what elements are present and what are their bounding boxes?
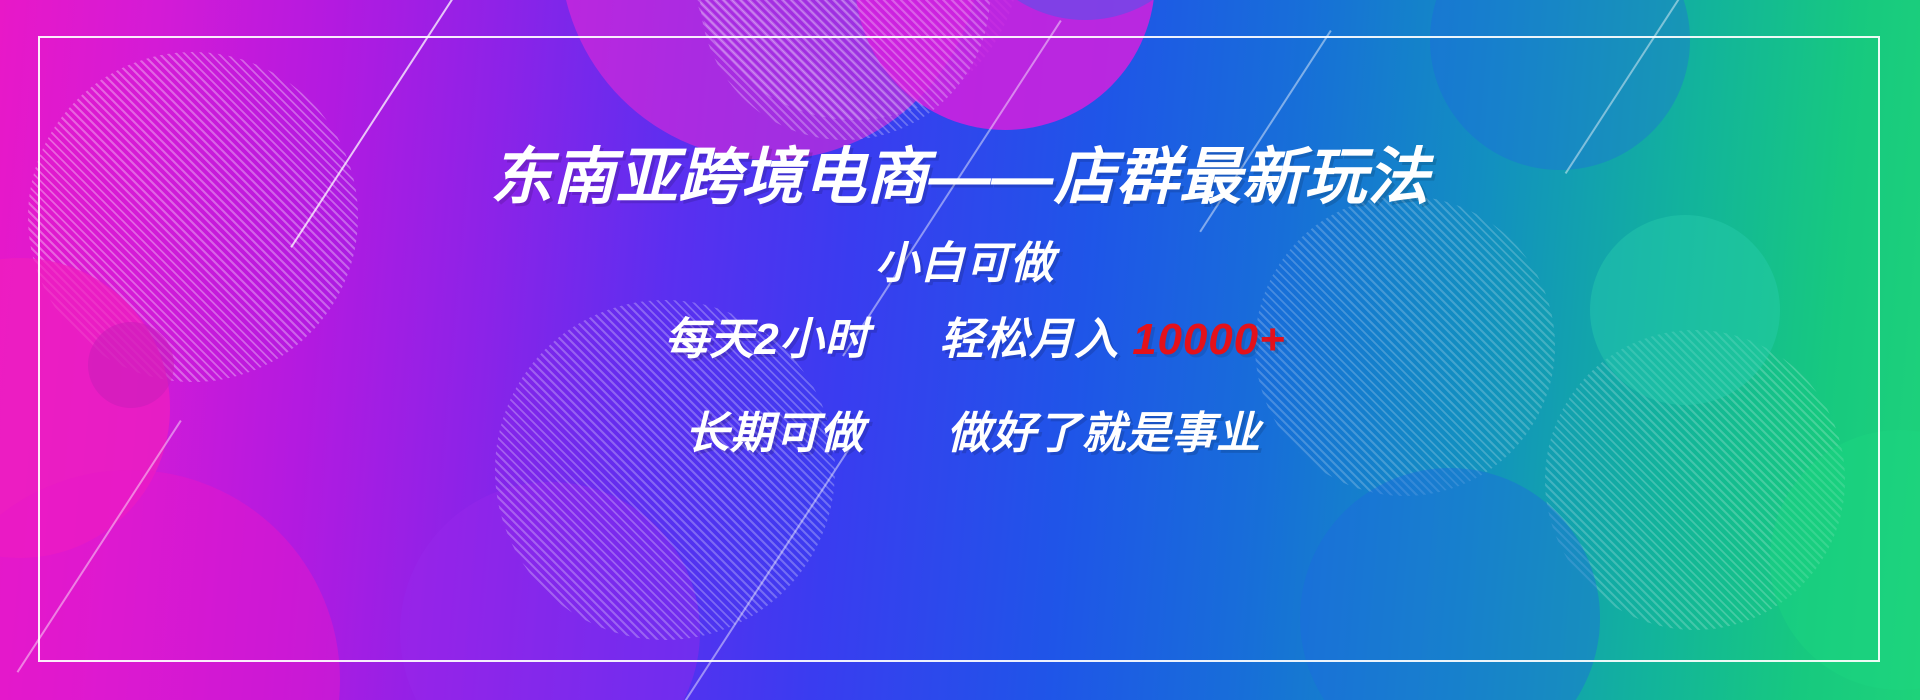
promo-banner: 东南亚跨境电商——店群最新玩法 小白可做 每天2小时 轻松月入 10000+ 长… — [0, 0, 1920, 700]
banner-subtitle-beginner: 小白可做 — [875, 242, 1055, 286]
income-amount-highlight: 10000+ — [1132, 315, 1285, 364]
banner-copy: 东南亚跨境电商——店群最新玩法 小白可做 每天2小时 轻松月入 10000+ 长… — [0, 0, 1920, 700]
banner-title: 东南亚跨境电商——店群最新玩法 — [490, 147, 1429, 209]
banner-subtitle-career: 长期可做 做好了就是事业 — [685, 412, 1261, 456]
banner-subtitle-income: 每天2小时 轻松月入 10000+ — [664, 318, 1285, 362]
income-prefix-text: 轻松月入 — [940, 315, 1120, 364]
career-text: 做好了就是事业 — [947, 409, 1261, 458]
longterm-text: 长期可做 — [685, 409, 865, 458]
time-commitment-text: 每天2小时 — [664, 315, 869, 364]
